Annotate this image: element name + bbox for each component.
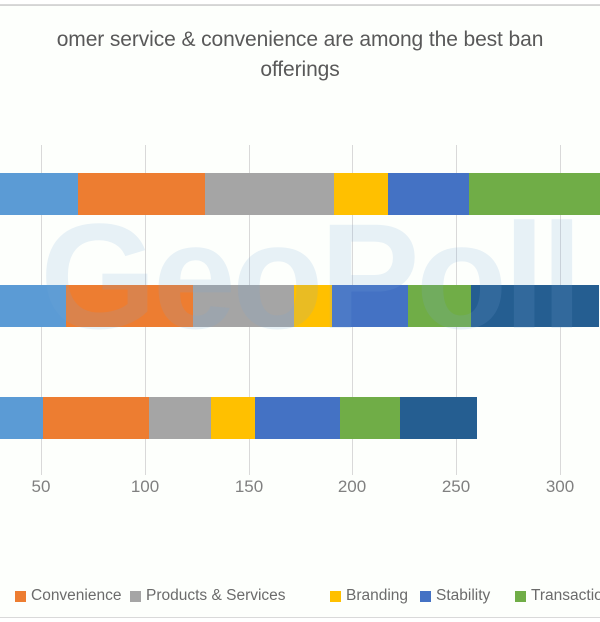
x-axis-tick-label: 100 [131,477,159,497]
x-axis-tick-label: 250 [442,477,470,497]
bar-segment[interactable] [193,285,295,327]
legend-swatch [130,591,141,602]
x-axis-tick-label: 300 [546,477,574,497]
x-axis-tick-label: 150 [235,477,263,497]
legend-swatch [330,591,341,602]
bar-segment[interactable] [471,285,600,327]
legend-item[interactable]: Branding [330,583,408,609]
plot-area [0,145,600,475]
bar-segment[interactable] [0,173,78,215]
chart-legend: eConvenienceProducts & ServicesBrandingS… [0,583,600,609]
legend-swatch [420,591,431,602]
x-axis-tick-label: 200 [338,477,366,497]
bar-segment[interactable] [294,285,331,327]
legend-swatch [515,591,526,602]
legend-item[interactable]: Products & Services [130,583,286,609]
bar-row [0,173,600,215]
bar-segment[interactable] [332,285,409,327]
chart-title-line-2: offerings [0,55,600,85]
legend-item[interactable]: Transactio [515,583,600,609]
bar-segment[interactable] [400,397,477,439]
bar-segment[interactable] [334,173,388,215]
bar-segment[interactable] [149,397,211,439]
legend-label: Branding [346,587,408,605]
legend-item[interactable]: Stability [420,583,490,609]
x-axis-tick-labels: 50100150200250300 [0,477,600,507]
bar-segment[interactable] [340,397,400,439]
bar-segment[interactable] [469,173,600,215]
bar-segment[interactable] [255,397,340,439]
x-axis-tick-label: 50 [32,477,51,497]
legend-label: Stability [436,587,490,605]
bar-segment[interactable] [408,285,470,327]
bar-row [0,397,600,439]
bar-segment[interactable] [66,285,193,327]
bar-row [0,285,600,327]
chart-title-line-1: omer service & convenience are among the… [0,25,600,55]
bar-segment[interactable] [211,397,255,439]
card-top-divider [0,5,600,6]
legend-item[interactable]: Convenience [15,583,121,609]
bar-segment[interactable] [78,173,205,215]
legend-label: Products & Services [146,587,286,605]
bar-segment[interactable] [205,173,334,215]
bar-segment[interactable] [0,285,66,327]
legend-label: Transactio [531,587,600,605]
legend-swatch [15,591,26,602]
bar-segment[interactable] [388,173,469,215]
chart-title: omer service & convenience are among the… [0,25,600,85]
chart-card: omer service & convenience are among the… [0,4,600,618]
bar-segment[interactable] [0,397,43,439]
bar-segment[interactable] [43,397,149,439]
legend-label: Convenience [31,587,121,605]
